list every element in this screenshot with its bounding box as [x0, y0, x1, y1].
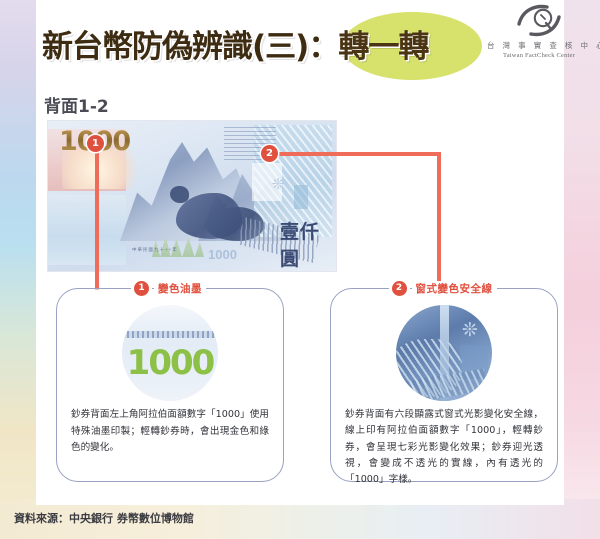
brand-logo: 台 灣 事 實 查 核 中 心 Taiwan FactCheck Center	[487, 4, 591, 72]
panel-1-zoom-detail: 1000	[122, 305, 218, 401]
connector-line-2-horizontal	[278, 152, 441, 156]
banknote-denomination-chinese: 壹仟圓	[280, 217, 336, 271]
panel-color-shifting-ink: 1變色油墨 1000 鈔券背面左上角阿拉伯面額數字「1000」使用特殊油墨印製；…	[56, 288, 284, 482]
page-title-highlight: 轉一轉	[338, 29, 428, 65]
page-title: 新台幣防偽辨識(三)：轉一轉	[42, 21, 428, 66]
panel-2-heading: 2窗式變色安全線	[331, 280, 557, 298]
plum-blossom-icon: ❊	[270, 177, 286, 193]
panel-1-title: 變色油墨	[154, 281, 206, 296]
panel-1-body: 鈔券背面左上角阿拉伯面額數字「1000」使用特殊油墨印製；輕轉鈔券時，會出現金色…	[71, 407, 269, 457]
panel-1-heading: 1變色油墨	[57, 280, 283, 298]
marker-1-on-note[interactable]: 1	[87, 135, 104, 152]
zoom-1-stripe	[122, 331, 218, 338]
logo-name-en: Taiwan FactCheck Center	[487, 52, 591, 59]
connector-line-2-vertical	[437, 152, 441, 292]
connector-line-1	[95, 148, 99, 290]
panel-2-zoom-detail: ❊	[396, 305, 492, 401]
source-credit: 資料來源：中央銀行 券幣數位博物館	[14, 510, 194, 526]
pheasant-head	[170, 186, 189, 203]
eye-magnifier-icon	[516, 4, 562, 38]
panel-2-marker: 2	[392, 281, 407, 296]
infographic-canvas: 新台幣防偽辨識(三)：轉一轉 台 灣 事 實 查 核 中 心 Taiwan Fa…	[0, 0, 600, 539]
banknote-blue-block	[294, 185, 308, 209]
panel-1-marker: 1	[134, 281, 149, 296]
zoom-1-numeral: 1000	[127, 343, 214, 383]
panel-2-body: 鈔券背面有六段顯露式窗式光影變化安全線，線上印有阿拉伯面額數字「1000」，輕轉…	[345, 407, 543, 488]
section-label: 背面1-2	[44, 92, 109, 117]
page-title-main: 新台幣防偽辨識(三)：	[42, 29, 338, 65]
header: 新台幣防偽辨識(三)：轉一轉	[36, 8, 564, 82]
banknote-microtext: 中華民國九十++年	[132, 247, 178, 253]
marker-2-on-note[interactable]: 2	[261, 145, 278, 162]
banknote-blue-band	[48, 195, 126, 265]
zoom-2-plum-blossom-icon: ❊	[460, 321, 480, 341]
panel-2-title: 窗式變色安全線	[412, 281, 497, 296]
banknote-ghost-numeral: 1000	[208, 247, 237, 262]
panel-window-security-thread: 2窗式變色安全線 ❊ 鈔券背面有六段顯露式窗式光影變化安全線，線上印有阿拉伯面額…	[330, 288, 558, 482]
logo-name-cn: 台 灣 事 實 查 核 中 心	[487, 40, 591, 51]
